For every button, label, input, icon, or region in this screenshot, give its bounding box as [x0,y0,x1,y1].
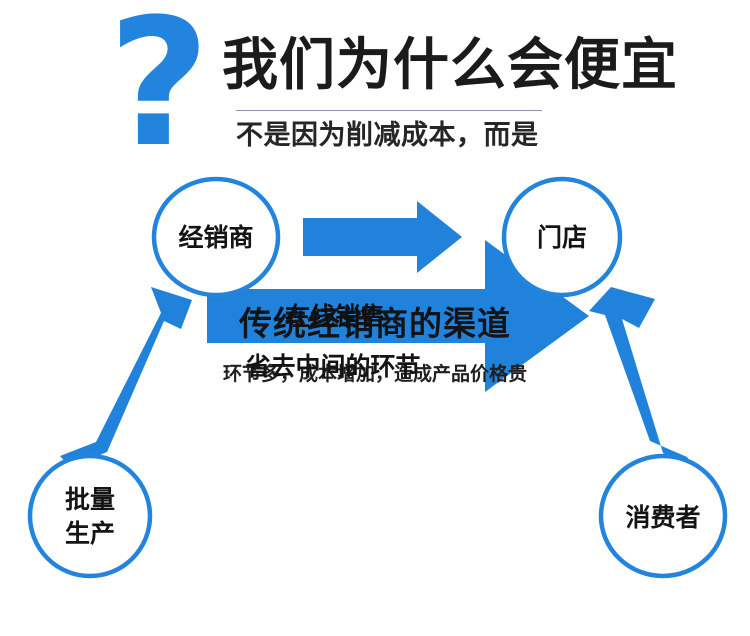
node-mass-production-circle [30,456,150,576]
node-mass-production[interactable]: 批量 生产 [30,456,150,576]
diagram-canvas: 经销商 门店 批量 生产 消费者 传统经销商的渠道 环节多，成本增加，造成 [0,170,750,636]
channel-diagram: 经销商 门店 批量 生产 消费者 传统经销商的渠道 环节多，成本增加，造成 [0,170,750,636]
arrow-consumer-to-store [589,287,696,468]
page-subtitle: 不是因为削减成本，而是 [236,116,676,156]
node-consumer[interactable]: 消费者 [601,456,725,576]
arrow-distributor-to-store [303,201,462,273]
node-mass-production-label-line2: 生产 [65,519,115,548]
infographic-page: ? 我们为什么会便宜 不是因为削减成本，而是 [0,0,750,636]
header-block: ? 我们为什么会便宜 不是因为削减成本，而是 [0,0,750,172]
node-store-label: 门店 [537,223,587,252]
question-mark-icon: ? [100,8,218,160]
page-title: 我们为什么会便宜 [222,31,642,101]
arrow-production-to-distributor [60,287,192,467]
online-sales-caption: 省去中间的环节 [244,352,420,381]
online-sales-arrow-label: 在线销售 [285,302,385,331]
node-store[interactable]: 门店 [504,179,620,295]
title-divider [236,110,542,111]
node-mass-production-label-line1: 批量 [65,485,115,514]
node-distributor[interactable]: 经销商 [154,179,278,295]
node-consumer-label: 消费者 [625,503,700,532]
node-distributor-label: 经销商 [178,223,253,252]
